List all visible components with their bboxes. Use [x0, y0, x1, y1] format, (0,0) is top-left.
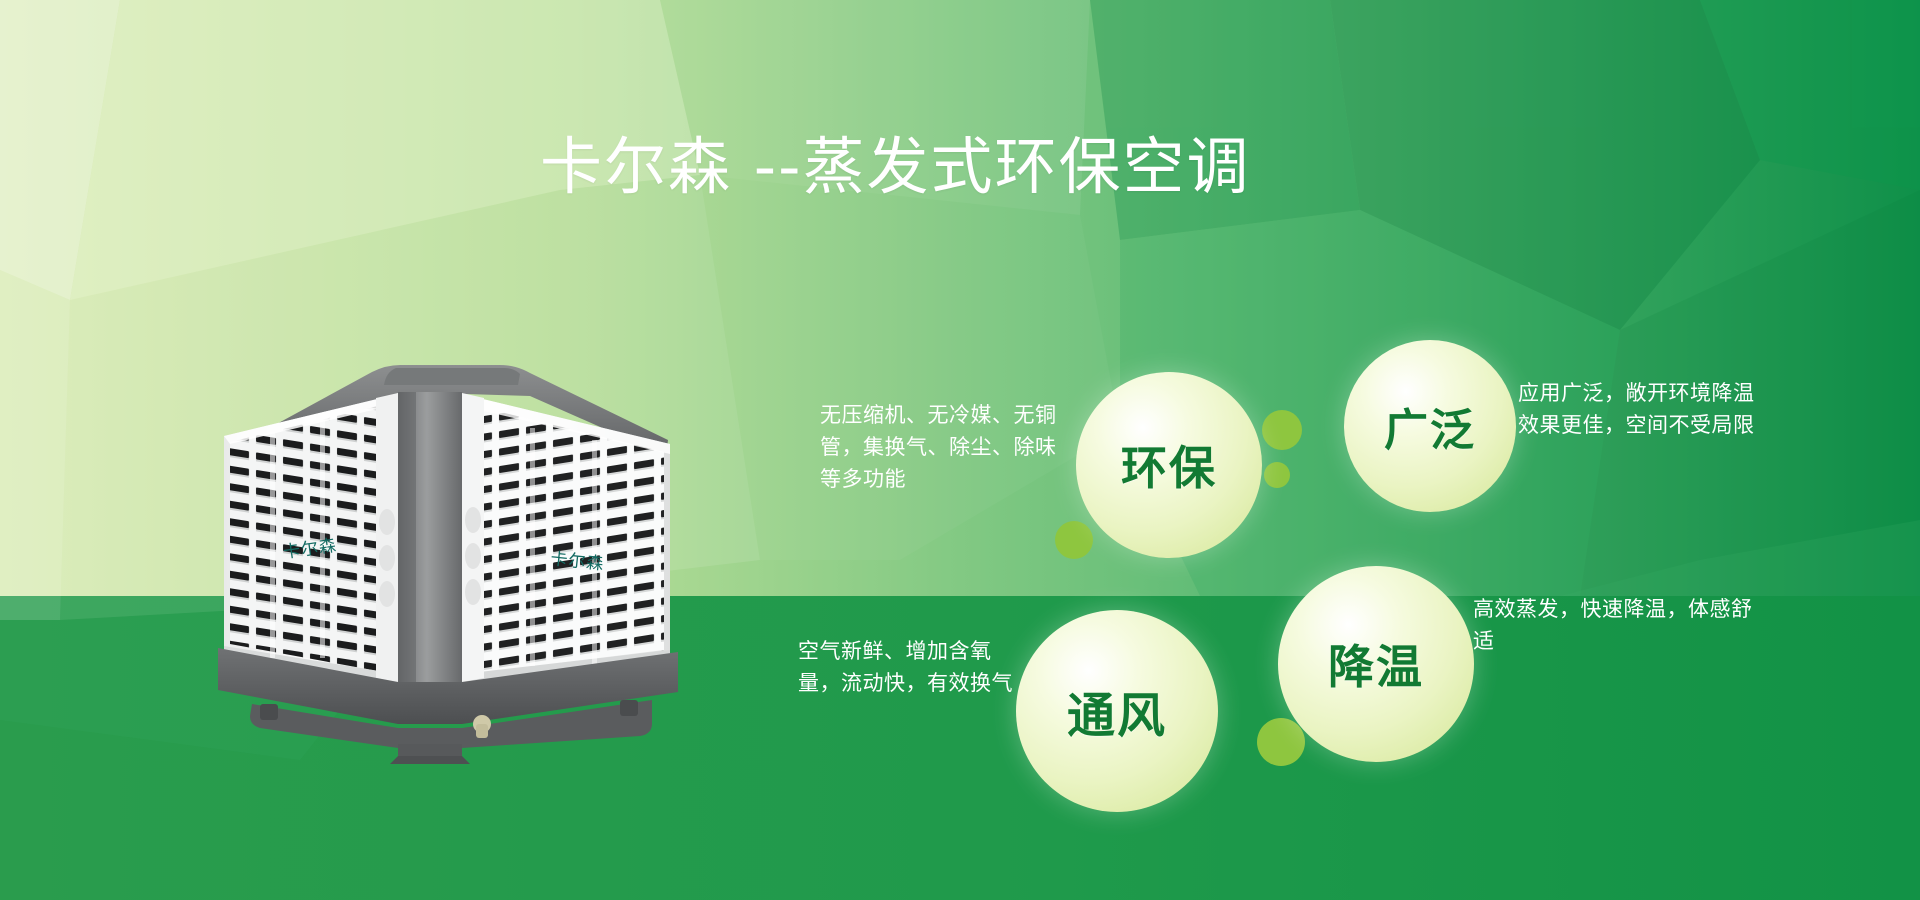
- feature-bubble-label-huanbao: 环保: [1121, 432, 1217, 498]
- feature-description-guangfan: 应用广泛，敞开环境降温效果更佳，空间不受局限: [1518, 378, 1758, 442]
- promo-banner: 卡尔森 --蒸发式环保空调: [0, 0, 1920, 900]
- accent-dot-lower: [1257, 718, 1305, 766]
- accent-dot-small-upper: [1264, 462, 1290, 488]
- feature-bubble-tongfeng[interactable]: 通风: [1016, 610, 1218, 812]
- feature-bubble-jiangwen[interactable]: 降温: [1278, 566, 1474, 762]
- feature-description-huanbao: 无压缩机、无冷媒、无铜管，集换气、除尘、除味等多功能: [820, 400, 1072, 496]
- feature-bubble-label-tongfeng: 通风: [1067, 676, 1167, 746]
- feature-description-jiangwen: 高效蒸发，快速降温，体感舒适: [1473, 594, 1753, 658]
- feature-bubble-label-jiangwen: 降温: [1328, 631, 1424, 697]
- feature-bubble-huanbao[interactable]: 环保: [1076, 372, 1262, 558]
- feature-bubble-label-guangfan: 广泛: [1384, 394, 1476, 458]
- product-image-evaporative-air-cooler: 卡尔森 卡尔森: [200, 352, 700, 764]
- feature-bubble-guangfan[interactable]: 广泛: [1344, 340, 1516, 512]
- feature-description-tongfeng: 空气新鲜、增加含氧量，流动快，有效换气: [798, 636, 1028, 700]
- accent-dot-large-upper: [1262, 410, 1302, 450]
- page-title: 卡尔森 --蒸发式环保空调: [540, 132, 1250, 201]
- accent-dot-middle-left: [1055, 521, 1093, 559]
